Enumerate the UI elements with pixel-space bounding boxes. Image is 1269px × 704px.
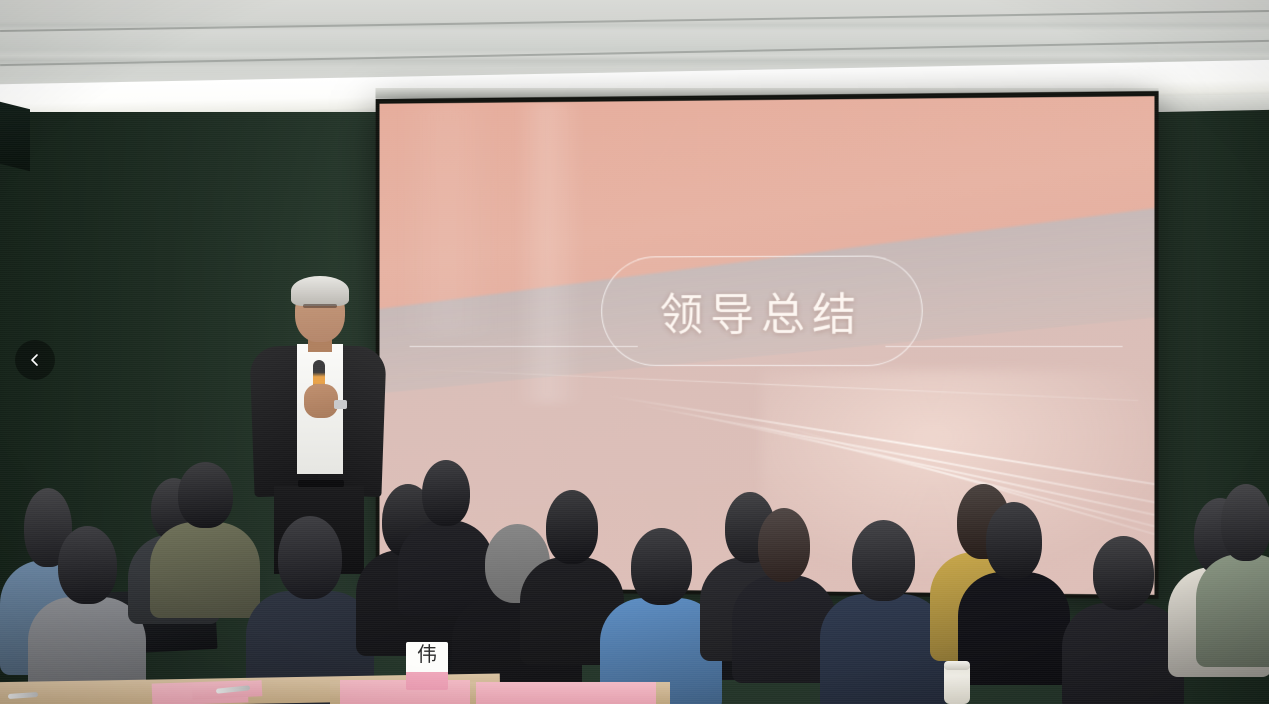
- presenter-watch: [334, 400, 347, 409]
- ceiling-seam: [0, 10, 1269, 32]
- pink-document: [476, 682, 656, 704]
- presenter-face-shadow: [303, 304, 337, 308]
- chevron-left-icon: [27, 352, 43, 368]
- thermos-cap: [944, 661, 970, 670]
- presenter-hands: [304, 384, 338, 418]
- slide-rule-right: [886, 346, 1123, 347]
- ceiling-seam: [0, 40, 1269, 66]
- slide-title-pill: 领导总结: [601, 256, 923, 367]
- name-placard: 伟: [406, 642, 448, 690]
- slide-title: 领导总结: [659, 279, 863, 343]
- photo-viewer: 领导总结 伟: [0, 0, 1269, 704]
- slide-sheen: [515, 102, 584, 404]
- name-placard-text: 伟: [417, 642, 437, 665]
- slide-rule-left: [410, 345, 638, 346]
- thermos: [944, 664, 970, 704]
- pink-document: [340, 680, 470, 704]
- previous-image-button[interactable]: [15, 340, 55, 380]
- desk-foreground: 伟: [0, 440, 1269, 704]
- slide-sheen-secondary: [395, 103, 501, 336]
- ceiling-speaker-box: [0, 99, 30, 171]
- presenter-hair: [291, 276, 349, 306]
